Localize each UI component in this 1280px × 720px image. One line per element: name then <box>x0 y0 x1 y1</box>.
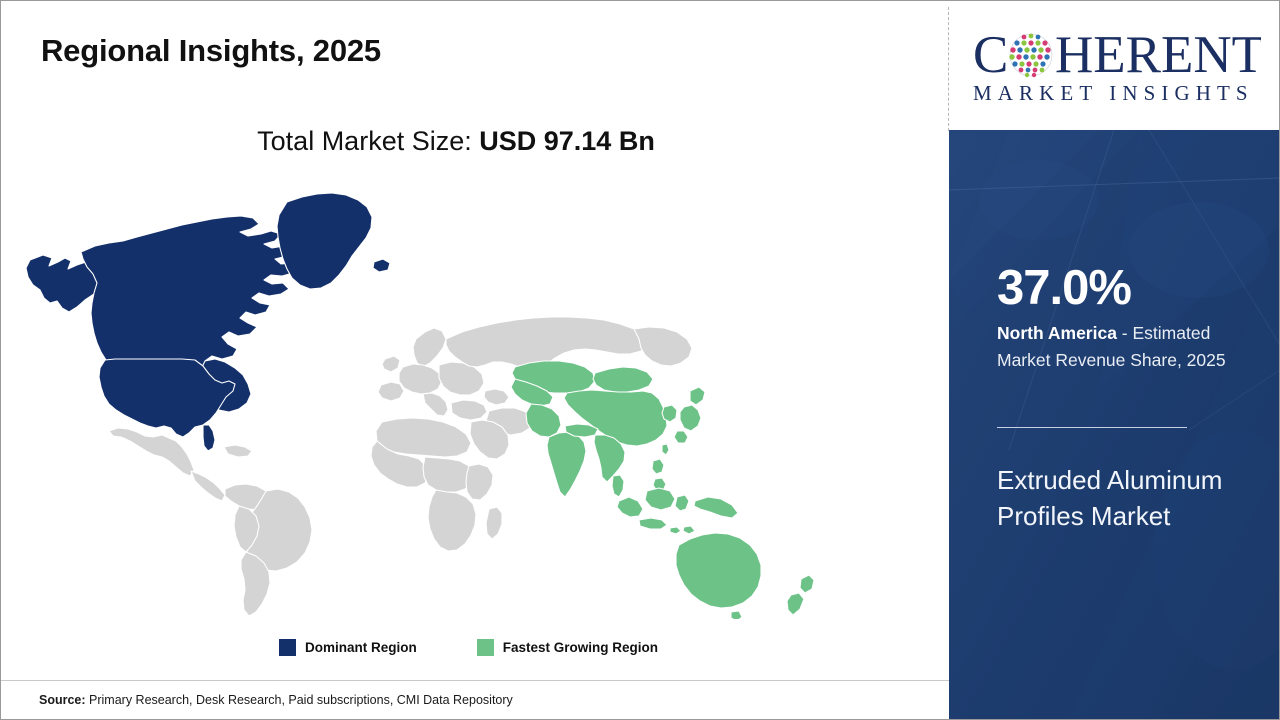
country-russia-far-east <box>634 327 692 366</box>
country-western-europe <box>399 364 442 394</box>
legend-swatch-dominant-icon <box>279 639 296 656</box>
market-share-caption: North America - Estimated Market Revenue… <box>997 320 1263 373</box>
page-title: Regional Insights, 2025 <box>41 33 381 69</box>
svg-text:MARKET INSIGHTS: MARKET INSIGHTS <box>973 81 1254 105</box>
total-market-size-value: USD 97.14 Bn <box>479 126 655 156</box>
country-sumatra <box>617 497 643 517</box>
country-new-guinea <box>694 497 738 518</box>
country-east-africa <box>466 464 493 500</box>
country-caucasus <box>484 389 509 405</box>
country-japan <box>674 387 705 443</box>
country-iberia <box>378 382 404 401</box>
legend-item-dominant: Dominant Region <box>279 639 417 656</box>
world-map-container <box>19 179 899 619</box>
source-divider <box>1 680 949 681</box>
country-india <box>547 432 586 497</box>
country-caribbean <box>224 445 252 457</box>
country-madagascar <box>486 507 502 539</box>
country-philippines <box>652 459 666 491</box>
country-arctic-island <box>373 259 390 272</box>
world-map <box>19 179 899 619</box>
country-us-florida <box>203 425 215 451</box>
country-malay-peninsula <box>612 475 624 497</box>
left-content-pane: Regional Insights, 2025 Total Market Siz… <box>1 1 949 719</box>
market-share-region: North America <box>997 323 1117 343</box>
legend-item-fastest-growing: Fastest Growing Region <box>477 639 658 656</box>
legend-label-dominant: Dominant Region <box>305 640 417 655</box>
vertical-dashed-divider <box>948 7 949 131</box>
total-market-size: Total Market Size: USD 97.14 Bn <box>1 126 911 157</box>
country-mongolia <box>593 367 653 392</box>
country-southern-africa <box>428 490 476 551</box>
source-label: Source: <box>39 693 86 707</box>
brand-logo: C HERENT MARKET IN <box>950 2 1280 130</box>
panel-texture-overlay <box>949 130 1280 719</box>
legend-swatch-fastest-growing-icon <box>477 639 494 656</box>
market-name: Extruded Aluminum Profiles Market <box>997 463 1259 535</box>
country-uk-ireland <box>382 356 400 372</box>
svg-text:HERENT: HERENT <box>1055 26 1261 84</box>
country-tasmania <box>731 611 742 619</box>
country-new-zealand <box>787 575 814 615</box>
country-sulawesi <box>675 495 689 511</box>
country-turkey <box>451 400 487 420</box>
country-java <box>639 518 667 529</box>
country-greenland <box>277 193 372 289</box>
country-korea <box>662 405 677 422</box>
country-central-america <box>191 471 225 501</box>
country-scandinavia <box>413 328 446 367</box>
country-italy-balkans <box>423 393 448 416</box>
coherent-market-insights-logo: C HERENT MARKET IN <box>969 24 1261 108</box>
country-taiwan <box>662 444 669 455</box>
source-text: Primary Research, Desk Research, Paid su… <box>86 693 513 707</box>
market-share-value: 37.0% <box>997 264 1131 313</box>
country-lesser-sunda <box>670 526 695 534</box>
infographic-root: Regional Insights, 2025 Total Market Siz… <box>0 0 1280 720</box>
highlight-panel: 37.0% North America - Estimated Market R… <box>949 130 1280 719</box>
country-australia <box>676 533 761 608</box>
svg-text:C: C <box>973 26 1008 84</box>
source-note: Source: Primary Research, Desk Research,… <box>39 693 513 707</box>
dotted-globe-icon <box>1009 34 1052 78</box>
panel-divider-rule <box>997 427 1187 428</box>
country-pakistan <box>526 404 561 437</box>
map-legend: Dominant Region Fastest Growing Region <box>1 639 936 656</box>
country-borneo <box>645 488 675 510</box>
total-market-size-label: Total Market Size: <box>257 126 472 156</box>
legend-label-fastest-growing: Fastest Growing Region <box>503 640 658 655</box>
